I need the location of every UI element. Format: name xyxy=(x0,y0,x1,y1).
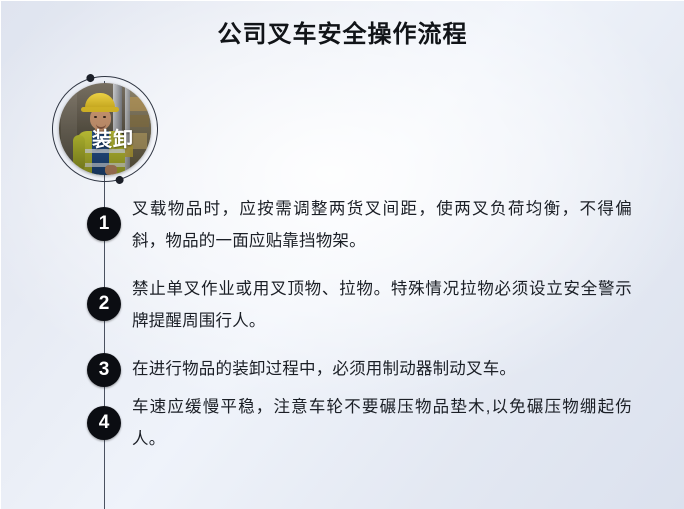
slide-canvas: 公司叉车安全操作流程 xyxy=(0,0,684,509)
step-item-1: 1 叉载物品时，应按需调整两货叉间距，使两叉负荷均衡，不得偏斜，物品的一面应贴靠… xyxy=(87,193,647,257)
step-text-3: 在进行物品的装卸过程中，必须用制动器制动叉车。 xyxy=(132,353,632,385)
forklift-operator-photo: 装卸 xyxy=(59,83,151,175)
page-title: 公司叉车安全操作流程 xyxy=(1,21,684,50)
photo-caption: 装卸 xyxy=(59,123,151,152)
ring-dot-top-icon xyxy=(85,73,95,83)
step-number-badge-1: 1 xyxy=(87,207,121,241)
step-item-2: 2 禁止单叉作业或用叉顶物、拉物。特殊情况拉物必须设立安全警示牌提醒周围行人。 xyxy=(87,273,647,337)
photo-badge: 装卸 xyxy=(49,73,161,185)
step-number-badge-2: 2 xyxy=(87,287,121,321)
step-text-1: 叉载物品时，应按需调整两货叉间距，使两叉负荷均衡，不得偏斜，物品的一面应贴靠挡物… xyxy=(132,193,632,257)
step-number-badge-3: 3 xyxy=(87,353,121,387)
step-text-4: 车速应缓慢平稳，注意车轮不要碾压物品垫木,以免碾压物绷起伤人。 xyxy=(132,391,632,455)
step-number-badge-4: 4 xyxy=(87,406,121,440)
step-item-4: 4 车速应缓慢平稳，注意车轮不要碾压物品垫木,以免碾压物绷起伤人。 xyxy=(87,391,647,455)
step-item-3: 3 在进行物品的装卸过程中，必须用制动器制动叉车。 xyxy=(87,353,647,385)
step-text-2: 禁止单叉作业或用叉顶物、拉物。特殊情况拉物必须设立安全警示牌提醒周围行人。 xyxy=(132,273,632,337)
ring-dot-bottom-icon xyxy=(115,175,125,185)
